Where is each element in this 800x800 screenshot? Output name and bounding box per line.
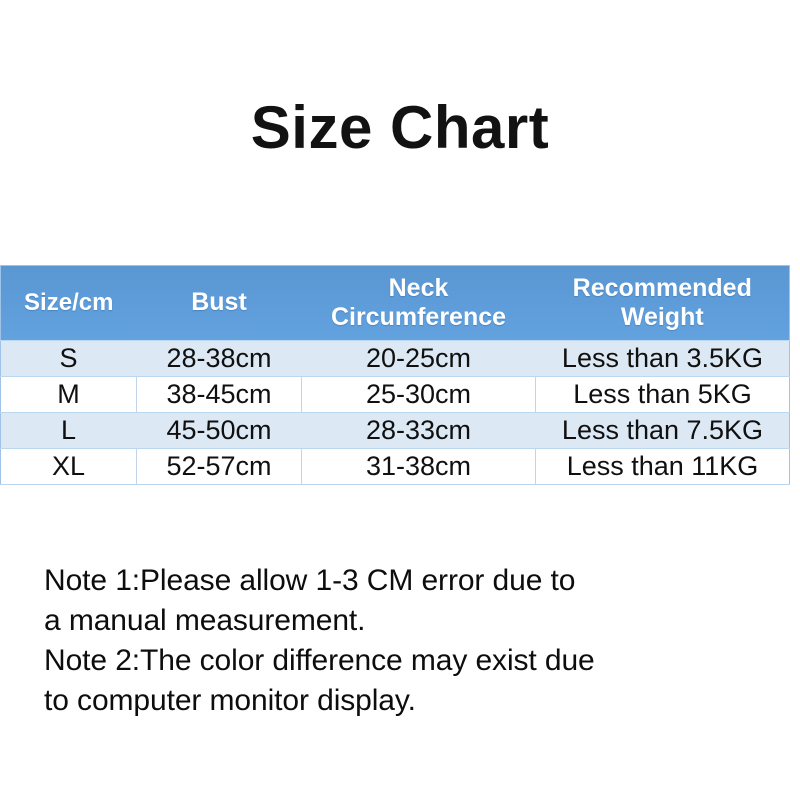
column-header-bust: Bust <box>137 266 302 341</box>
cell-bust: 28-38cm <box>137 341 302 377</box>
table-row: XL 52-57cm 31-38cm Less than 11KG <box>1 449 790 485</box>
table-body: S 28-38cm 20-25cm Less than 3.5KG M 38-4… <box>1 341 790 485</box>
column-header-weight-line1: Recommended <box>573 274 752 302</box>
column-header-neck-line2: Circumference <box>331 303 506 331</box>
size-chart-page: Size Chart Size/cm Bust Neck Circumferen… <box>0 0 800 800</box>
table-row: L 45-50cm 28-33cm Less than 7.5KG <box>1 413 790 449</box>
cell-size: XL <box>1 449 137 485</box>
column-header-neck-circumference: Neck Circumference <box>302 266 536 341</box>
column-header-recommended-weight: Recommended Weight <box>536 266 790 341</box>
cell-weight: Less than 11KG <box>536 449 790 485</box>
cell-size: L <box>1 413 137 449</box>
cell-bust: 38-45cm <box>137 377 302 413</box>
column-header-size: Size/cm <box>1 266 137 341</box>
column-header-neck-line1: Neck <box>389 274 449 302</box>
size-chart-table: Size/cm Bust Neck Circumference Recommen… <box>0 265 790 485</box>
size-table-container: Size/cm Bust Neck Circumference Recommen… <box>0 265 789 485</box>
table-row: S 28-38cm 20-25cm Less than 3.5KG <box>1 341 790 377</box>
cell-weight: Less than 7.5KG <box>536 413 790 449</box>
cell-size: M <box>1 377 137 413</box>
note-line-2: a manual measurement. <box>44 601 774 641</box>
cell-bust: 45-50cm <box>137 413 302 449</box>
note-line-1: Note 1:Please allow 1-3 CM error due to <box>44 561 774 601</box>
page-title: Size Chart <box>0 96 800 159</box>
notes-block: Note 1:Please allow 1-3 CM error due to … <box>44 561 774 721</box>
cell-bust: 52-57cm <box>137 449 302 485</box>
note-line-4: to computer monitor display. <box>44 681 774 721</box>
cell-weight: Less than 3.5KG <box>536 341 790 377</box>
table-header-row: Size/cm Bust Neck Circumference Recommen… <box>1 266 790 341</box>
column-header-weight-line2: Weight <box>621 303 704 331</box>
cell-neck: 28-33cm <box>302 413 536 449</box>
cell-neck: 20-25cm <box>302 341 536 377</box>
cell-size: S <box>1 341 137 377</box>
table-row: M 38-45cm 25-30cm Less than 5KG <box>1 377 790 413</box>
cell-neck: 31-38cm <box>302 449 536 485</box>
cell-neck: 25-30cm <box>302 377 536 413</box>
table-header: Size/cm Bust Neck Circumference Recommen… <box>1 266 790 341</box>
cell-weight: Less than 5KG <box>536 377 790 413</box>
note-line-3: Note 2:The color difference may exist du… <box>44 641 774 681</box>
